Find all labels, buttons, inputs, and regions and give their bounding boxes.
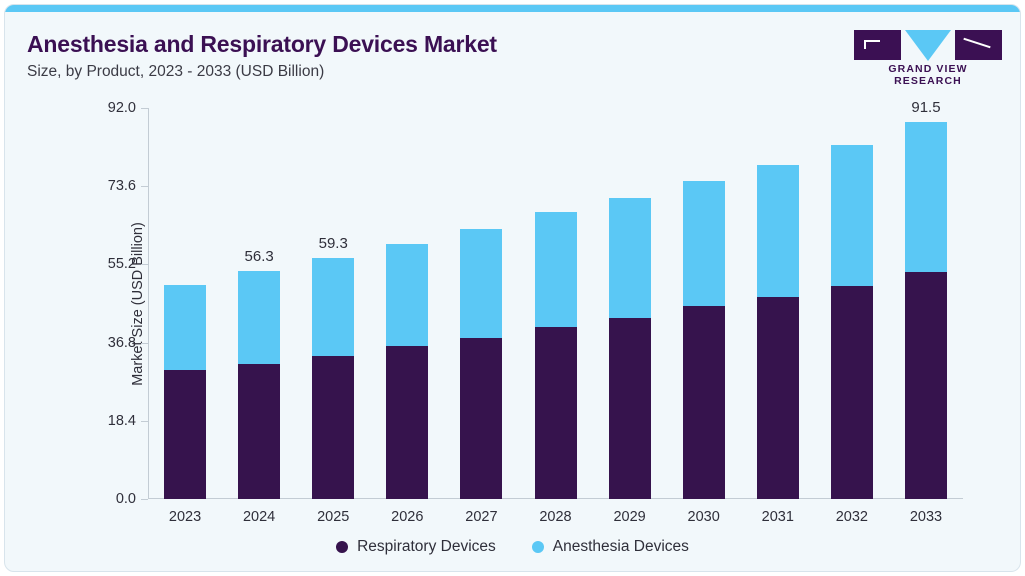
y-axis-tick xyxy=(141,499,148,500)
bar-segment-anesthesia[interactable] xyxy=(905,122,947,272)
bar-group[interactable] xyxy=(831,145,873,499)
page-title: Anesthesia and Respiratory Devices Marke… xyxy=(27,31,497,58)
bar-group[interactable] xyxy=(386,244,428,499)
bar-segment-anesthesia[interactable] xyxy=(609,198,651,318)
bar-segment-respiratory[interactable] xyxy=(164,370,206,499)
logo-triangle-icon xyxy=(905,30,951,61)
y-axis-tick xyxy=(141,421,148,422)
x-axis-tick-label: 2033 xyxy=(889,509,963,525)
y-axis-tick-label: 36.8 xyxy=(108,335,136,351)
y-axis-tick-label: 73.6 xyxy=(108,178,136,194)
y-axis-tick xyxy=(141,186,148,187)
logo-left-rect-icon xyxy=(854,30,901,60)
logo-text: GRAND VIEW RESEARCH xyxy=(854,63,1002,87)
bar-group[interactable] xyxy=(535,212,577,499)
y-axis-title: Market Size (USD Billion) xyxy=(130,222,146,386)
legend-color-swatch-icon xyxy=(532,541,544,553)
y-axis-tick xyxy=(141,264,148,265)
x-axis-tick-label: 2025 xyxy=(296,509,370,525)
bar-segment-anesthesia[interactable] xyxy=(683,181,725,306)
bar-group[interactable] xyxy=(683,181,725,499)
bar-segment-respiratory[interactable] xyxy=(460,338,502,499)
x-axis-tick-label: 2029 xyxy=(593,509,667,525)
page-subtitle: Size, by Product, 2023 - 2033 (USD Billi… xyxy=(27,63,324,81)
chart-legend: Respiratory DevicesAnesthesia Devices xyxy=(5,538,1020,556)
bar-segment-anesthesia[interactable] xyxy=(238,271,280,364)
y-axis-tick xyxy=(141,108,148,109)
bar-segment-respiratory[interactable] xyxy=(609,318,651,499)
bar-group[interactable] xyxy=(164,285,206,499)
legend-item[interactable]: Respiratory Devices xyxy=(336,538,496,556)
x-axis-tick-label: 2023 xyxy=(148,509,222,525)
bar-group[interactable]: 59.3 xyxy=(312,258,354,499)
x-axis-tick-label: 2026 xyxy=(370,509,444,525)
top-accent-bar xyxy=(5,5,1020,12)
bar-segment-respiratory[interactable] xyxy=(535,327,577,499)
bar-segment-respiratory[interactable] xyxy=(386,346,428,499)
bar-group[interactable]: 56.3 xyxy=(238,271,280,499)
bar-segment-anesthesia[interactable] xyxy=(460,229,502,338)
bar-segment-anesthesia[interactable] xyxy=(535,212,577,327)
y-axis-tick xyxy=(141,343,148,344)
chart-plot-area: Market Size (USD Billion) 0.018.436.855.… xyxy=(148,108,963,499)
bar-segment-respiratory[interactable] xyxy=(757,297,799,499)
bar-segment-anesthesia[interactable] xyxy=(831,145,873,286)
bar-segment-anesthesia[interactable] xyxy=(164,285,206,370)
x-axis-tick-label: 2028 xyxy=(518,509,592,525)
bar-segment-respiratory[interactable] xyxy=(831,286,873,499)
y-axis-tick-label: 0.0 xyxy=(116,491,136,507)
bar-segment-anesthesia[interactable] xyxy=(312,258,354,357)
logo-marks xyxy=(854,30,1002,60)
bar-group[interactable]: 91.5 xyxy=(905,122,947,499)
bar-group[interactable] xyxy=(609,198,651,499)
bar-segment-respiratory[interactable] xyxy=(905,272,947,499)
legend-label: Anesthesia Devices xyxy=(553,538,689,556)
bar-segment-anesthesia[interactable] xyxy=(386,244,428,347)
legend-label: Respiratory Devices xyxy=(357,538,496,556)
bar-value-label: 56.3 xyxy=(245,248,274,265)
logo-right-rect-icon xyxy=(955,30,1002,60)
bar-segment-respiratory[interactable] xyxy=(683,306,725,499)
y-axis-tick-label: 55.2 xyxy=(108,256,136,272)
bar-value-label: 59.3 xyxy=(319,235,348,252)
x-axis-tick-label: 2030 xyxy=(667,509,741,525)
bar-group[interactable] xyxy=(460,229,502,499)
bar-group[interactable] xyxy=(757,165,799,499)
bar-segment-respiratory[interactable] xyxy=(238,364,280,499)
y-axis-tick-label: 92.0 xyxy=(108,100,136,116)
x-axis-tick-label: 2024 xyxy=(222,509,296,525)
bar-value-label: 91.5 xyxy=(911,99,940,116)
legend-item[interactable]: Anesthesia Devices xyxy=(532,538,689,556)
bar-segment-respiratory[interactable] xyxy=(312,356,354,499)
x-axis-tick-label: 2031 xyxy=(741,509,815,525)
x-axis-tick-label: 2032 xyxy=(815,509,889,525)
y-axis-line xyxy=(148,108,149,499)
chart-card: Anesthesia and Respiratory Devices Marke… xyxy=(4,4,1021,572)
bar-segment-anesthesia[interactable] xyxy=(757,165,799,297)
y-axis-tick-label: 18.4 xyxy=(108,413,136,429)
grand-view-research-logo: GRAND VIEW RESEARCH xyxy=(854,30,1002,78)
x-axis-tick-label: 2027 xyxy=(444,509,518,525)
legend-color-swatch-icon xyxy=(336,541,348,553)
